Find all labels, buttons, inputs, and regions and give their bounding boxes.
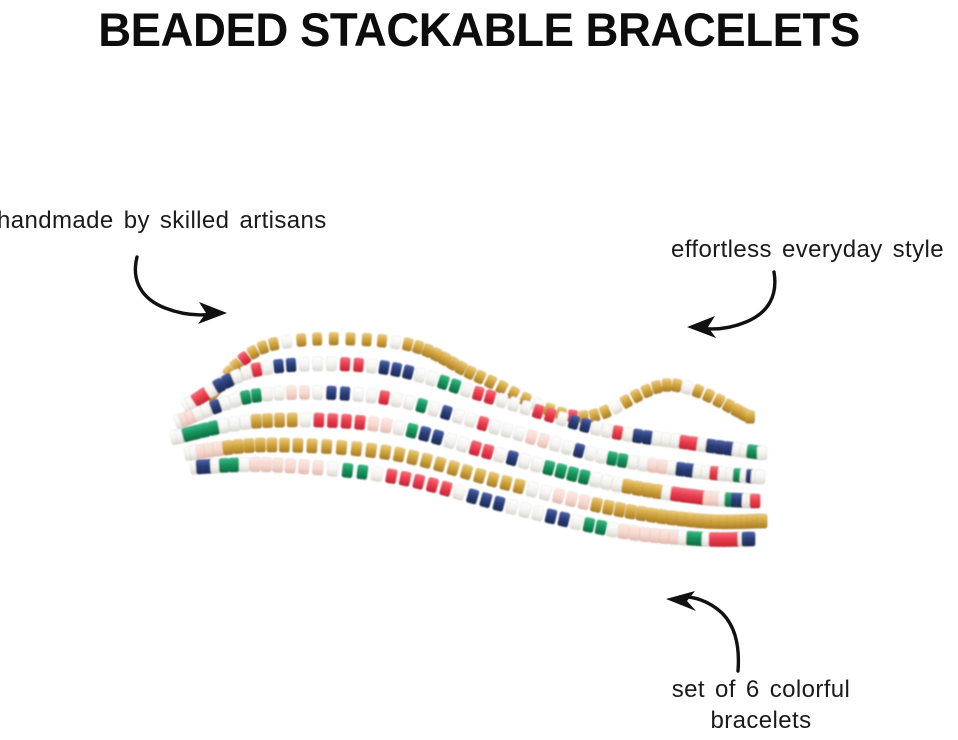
bead [281,335,292,349]
bead [377,334,388,348]
bead [313,385,323,399]
bead [448,378,462,394]
bead [662,379,672,392]
callout-bottom-line2: bracelets [661,705,861,736]
bead [274,413,285,428]
bead [313,357,323,371]
bead [390,335,401,349]
bead [366,359,377,374]
bead [483,389,496,405]
bead [479,492,493,509]
bead [628,525,640,541]
bead [356,464,368,480]
bead [476,416,489,432]
bead [393,420,406,436]
product-infographic: BEADED STACKABLE BRACELETS [0,0,958,740]
bead [378,390,390,405]
bead [440,405,454,421]
bead [554,463,568,480]
bead [436,374,450,390]
bead [590,497,603,513]
bead [366,388,378,403]
bead [427,401,441,417]
bead [321,439,332,454]
bead [577,469,591,486]
bead [415,398,428,414]
bead [371,466,384,482]
bead [459,464,473,481]
bead [342,463,354,479]
bead [460,382,474,398]
bead [299,357,309,371]
bead [565,491,579,508]
bead [412,473,426,490]
bead [542,460,556,477]
bead [402,364,415,380]
bead [561,439,574,455]
bead [530,456,544,473]
bead [353,358,364,373]
bead [525,429,538,445]
bead [430,429,444,446]
bead [272,458,283,473]
bead [390,392,403,408]
bead [500,422,513,438]
bead [595,448,608,464]
bead [327,461,339,476]
bead [222,440,234,456]
bead [299,385,309,399]
bead [512,478,526,495]
bead [613,502,626,518]
bead [757,446,767,460]
bead [471,385,485,401]
bead [681,380,694,395]
bead [468,440,482,457]
page-title: BEADED STACKABLE BRACELETS [14,2,943,58]
bead [671,378,683,392]
bead [262,387,273,402]
bead [286,386,296,400]
bead [268,337,280,352]
bead [606,522,619,538]
bead [261,360,273,375]
bead [339,386,350,401]
bead [590,420,603,436]
bead [570,514,583,530]
bead [539,485,553,502]
bead [267,438,278,453]
bead [251,388,263,403]
bead [341,414,353,429]
bead [531,505,545,522]
bead [239,457,250,472]
bead [329,332,339,345]
callout-right-text: effortless everyday style [671,234,944,265]
bead [602,499,615,515]
bead [495,392,509,408]
bead [306,438,317,453]
bead [544,508,558,525]
arrow-left-down-right [135,257,227,324]
bead [300,413,311,428]
bead [439,480,453,497]
bead [403,395,416,411]
bead [350,441,362,456]
bead [312,332,322,345]
bead [552,488,566,505]
bead [488,419,501,435]
bead [499,475,513,492]
bead [250,457,261,472]
bead [433,456,447,473]
bead [616,453,628,469]
bead [367,416,379,432]
bead [425,477,439,494]
product-image-beaded-bracelets [150,325,790,575]
bead [255,438,266,453]
bead [405,422,419,439]
bead [481,443,495,460]
bead [584,446,597,462]
bead [380,418,393,434]
bead [292,438,303,453]
bead [393,446,406,462]
bead [425,371,439,387]
bead [228,458,239,473]
bead [745,411,755,424]
bead [345,332,355,345]
bead [261,457,272,472]
bead [273,359,284,374]
bead [313,413,324,428]
bead [537,433,550,449]
bead [518,453,532,470]
bead [287,413,298,428]
bead [354,415,366,430]
bead [750,494,761,509]
bead [493,447,507,464]
callout-left-text: handmade by skilled artisans [0,205,327,236]
bead [757,514,768,529]
bead [402,337,414,352]
bead [443,432,457,449]
bead [577,494,590,510]
bead [336,440,348,455]
bead [232,439,244,454]
bead [525,481,539,498]
bead [624,504,637,520]
bead [219,458,230,473]
bead [745,532,756,547]
bead [446,460,460,477]
bead [262,413,273,428]
bead [296,333,306,347]
bead [378,360,390,375]
bead [365,443,377,459]
bead [286,358,297,373]
bead [326,386,337,400]
bead [285,458,296,473]
bead [340,357,351,371]
callout-bottom-text: set of 6 colorful bracelets [661,674,861,736]
bead [594,519,607,535]
bead [353,387,364,402]
callout-bottom-line1: set of 6 colorful [672,676,851,703]
bead [243,438,254,453]
bead [419,452,433,469]
bead [606,451,619,467]
bead [298,459,309,474]
bead [473,467,487,484]
bead [456,436,470,453]
bead [755,470,765,484]
bead [418,426,432,443]
bead [566,466,580,483]
bead [390,362,403,378]
bead [505,450,519,467]
bead [572,443,585,459]
bead [557,511,570,527]
bead [505,499,519,516]
bead [413,367,426,383]
bead [251,414,262,429]
bead [582,517,595,533]
bead [464,412,478,428]
bead [549,436,562,452]
bead [312,460,324,475]
bead [239,415,251,431]
bead [513,426,526,442]
bead [385,468,398,484]
arrow-bottom-up-left [666,591,738,671]
bead [466,488,480,505]
bead [518,502,532,519]
bead [406,449,420,466]
bead [452,408,466,424]
bead [617,524,630,540]
bead [274,386,285,401]
bead [495,379,509,395]
bead [327,413,338,428]
bead [492,495,506,512]
bead [601,423,614,439]
bead [379,444,392,460]
bead [362,333,372,347]
bracelet-strand-gold-top-arc [202,332,755,424]
bead [486,471,500,488]
bead [398,471,411,487]
bead [326,357,336,371]
bead [452,484,466,501]
bead [279,438,290,453]
bead [228,416,241,432]
